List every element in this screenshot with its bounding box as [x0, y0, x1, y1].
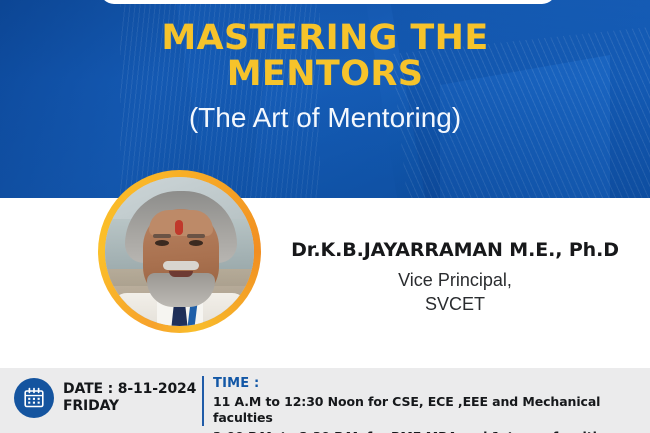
- event-poster: MASTERING THE MENTORS (The Art of Mentor…: [0, 0, 650, 433]
- date-weekday: FRIDAY: [63, 398, 196, 415]
- photo-eyebrow-left: [153, 234, 171, 238]
- photo-eye-right: [189, 240, 203, 246]
- top-rounded-tab: [100, 0, 556, 4]
- date-value: DATE : 8-11-2024: [63, 381, 196, 398]
- speaker-details: Dr.K.B.JAYARRAMAN M.E., Ph.D Vice Princi…: [285, 238, 625, 316]
- photo-tilak-mark: [175, 220, 183, 235]
- date-block: DATE : 8-11-2024 FRIDAY: [14, 378, 196, 418]
- photo-eyebrow-right: [187, 234, 205, 238]
- date-text-group: DATE : 8-11-2024 FRIDAY: [63, 381, 196, 415]
- poster-title-line-2: MENTORS: [0, 56, 650, 92]
- photo-inner: [105, 177, 254, 326]
- time-slot-2: 2:00 P.M. to 3:30 P.M. for BME,MBA and 1…: [213, 429, 643, 433]
- speaker-name: Dr.K.B.JAYARRAMAN M.E., Ph.D: [285, 238, 625, 262]
- photo-mouth: [169, 271, 193, 277]
- footer-divider: [202, 376, 204, 426]
- speaker-photo: [98, 170, 261, 333]
- photo-moustache: [163, 261, 199, 270]
- title-group: MASTERING THE MENTORS (The Art of Mentor…: [0, 20, 650, 135]
- time-label: TIME :: [213, 376, 643, 391]
- photo-eye-left: [155, 240, 169, 246]
- poster-title-line-1: MASTERING THE: [0, 20, 650, 56]
- time-block: TIME : 11 A.M to 12:30 Noon for CSE, ECE…: [213, 376, 643, 433]
- poster-subtitle: (The Art of Mentoring): [0, 101, 650, 135]
- speaker-organization: SVCET: [285, 292, 625, 316]
- footer-bar: DATE : 8-11-2024 FRIDAY TIME : 11 A.M to…: [0, 368, 650, 433]
- calendar-icon: [14, 378, 54, 418]
- time-slot-1: 11 A.M to 12:30 Noon for CSE, ECE ,EEE a…: [213, 394, 643, 426]
- speaker-role: Vice Principal,: [285, 268, 625, 292]
